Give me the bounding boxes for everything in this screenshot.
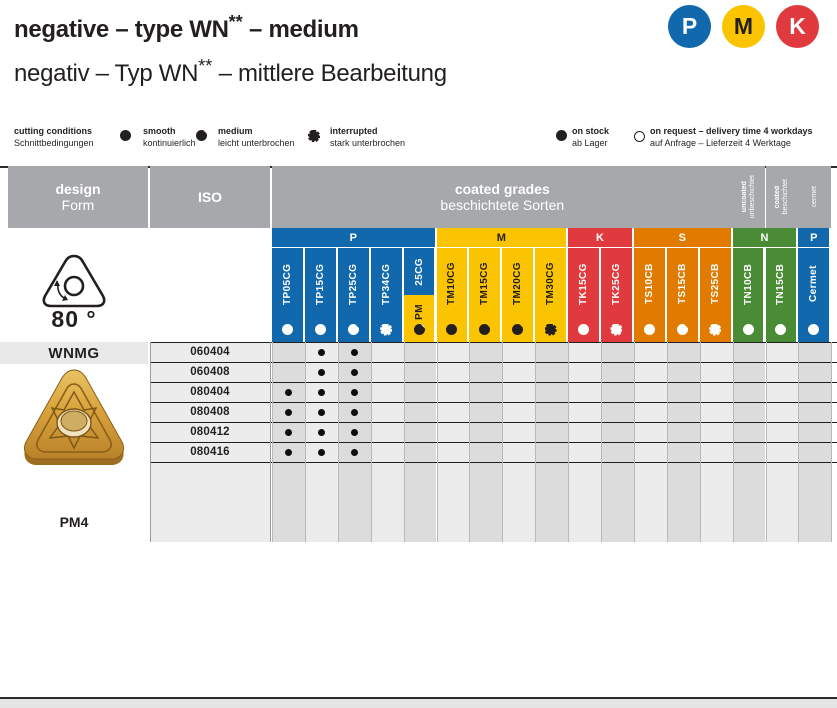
column-separator — [270, 342, 271, 542]
insert-photo-icon — [0, 368, 148, 498]
grade-symbol-cermet — [808, 323, 819, 336]
legend-item-en: smooth — [143, 126, 196, 138]
page-header: negative – type WN** – medium negativ – … — [0, 0, 837, 112]
grade-symbol-tp25cg — [348, 323, 359, 336]
legend-item-de: stark unterbrochen — [330, 138, 405, 150]
grade-column-pm: PM — [404, 295, 435, 342]
availability-dot — [351, 369, 358, 376]
coated-grades-header: coated gradesbeschichtete Sorten — [272, 166, 733, 228]
three-quarter-circle-icon — [196, 130, 207, 141]
table-body: WNMG — [0, 342, 837, 542]
grade-symbol-ts25cb — [709, 323, 721, 336]
filled-circle-icon — [743, 324, 754, 335]
availability-dot — [285, 389, 292, 396]
grade-column-tp34cg: TP34CG — [371, 248, 402, 342]
grade-symbol-tn10cb — [743, 323, 754, 336]
column-separator — [272, 342, 273, 542]
legend-item-de: kontinuierlich — [143, 138, 196, 150]
star-burst-icon — [308, 130, 320, 142]
design-header: designForm — [8, 166, 148, 228]
uncoated-header: uncoatedunbeschichtet — [733, 166, 766, 228]
grade-symbol-tn15cb — [775, 323, 786, 336]
legend-symbol-0 — [120, 130, 131, 145]
filled-circle-icon — [644, 324, 655, 335]
availability-dot — [318, 449, 325, 456]
grade-column-tn15cb: TN15CB — [766, 248, 797, 342]
legend-item-2: interruptedstark unterbrochen — [330, 126, 405, 149]
grade-group-p-5: P — [798, 228, 829, 247]
grade-name-tn15cb: TN15CB — [775, 248, 786, 320]
three-quarter-circle-icon — [775, 324, 786, 335]
grade-symbol-tk25cg — [610, 323, 622, 336]
grades-table: designFormISOcoated gradesbeschichtete S… — [0, 166, 837, 542]
grade-column-ts15cb: TS15CB — [667, 248, 698, 342]
column-separator — [437, 342, 438, 542]
grade-column-tn10cb: TN10CB — [733, 248, 764, 342]
star-burst-icon — [380, 324, 392, 336]
iso-header: ISO — [150, 166, 270, 228]
legend-item-1: mediumleicht unterbrochen — [218, 126, 295, 149]
insert-family-label: WNMG — [0, 342, 148, 364]
availability-dot — [285, 409, 292, 416]
iso-badge-m-1: M — [722, 5, 765, 48]
three-quarter-circle-icon — [479, 324, 490, 335]
grade-name-25cg: 25CG — [414, 258, 425, 286]
column-separator — [150, 342, 151, 542]
grade-name-ts25cb: TS25CB — [710, 248, 721, 320]
grade-symbol-tm15cg — [479, 323, 490, 336]
legend-item-en: interrupted — [330, 126, 405, 138]
column-separator — [667, 342, 668, 542]
grade-symbol-tk15cg — [578, 323, 589, 336]
legend-symbol-2 — [308, 130, 320, 146]
availability-dot — [318, 369, 325, 376]
design-cell: WNMG — [0, 342, 148, 542]
insert-shape-cell: 80 ° — [0, 248, 148, 342]
trigon-insert-icon — [0, 248, 148, 312]
availability-dot — [318, 349, 325, 356]
grade-symbol-tp34cg — [380, 323, 392, 336]
filled-circle-icon — [120, 130, 131, 141]
table-header-row-groups: PMKSNP — [0, 228, 837, 247]
filled-circle-icon — [446, 324, 457, 335]
column-separator — [469, 342, 470, 542]
grade-name-tp15cg: TP15CG — [315, 248, 326, 320]
three-quarter-circle-icon — [414, 324, 425, 335]
insert-angle-label: 80 ° — [0, 306, 148, 333]
chipbreaker-label: PM4 — [0, 514, 148, 530]
coated-grades-de: beschichtete Sorten — [440, 197, 564, 213]
iso-code-cell[interactable]: 060408 — [150, 362, 270, 382]
three-quarter-circle-icon — [677, 324, 688, 335]
title-de-suffix: – mittlere Bearbeitung — [212, 60, 447, 87]
grade-name-tp05cg: TP05CG — [282, 248, 293, 320]
grade-name-cermet: Cermet — [808, 248, 819, 320]
iso-badge-k-2: K — [776, 5, 819, 48]
iso-code-cell[interactable]: 080416 — [150, 442, 270, 462]
legend-item-de: leicht unterbrochen — [218, 138, 295, 150]
grade-symbol-tm10cg — [446, 323, 457, 336]
availability-dot — [351, 409, 358, 416]
three-quarter-circle-icon — [348, 324, 359, 335]
iso-header-label: ISO — [198, 189, 222, 205]
grade-name-tm30cg: TM30CG — [545, 248, 556, 320]
legend-bar: cutting conditions Schnittbedingungen sm… — [0, 120, 837, 160]
grade-symbol-ts10cb — [644, 323, 655, 336]
grade-name-tk15cg: TK15CG — [578, 248, 589, 320]
availability-dot — [318, 409, 325, 416]
grade-group-n-4: N — [733, 228, 797, 247]
design-header-de: Form — [55, 197, 100, 213]
grade-group-m-1: M — [437, 228, 567, 247]
grade-column-tp05cg: TP05CG — [272, 248, 303, 342]
row-divider-last — [150, 462, 837, 463]
column-separator — [568, 342, 569, 542]
grade-column-tk25cg: TK25CG — [601, 248, 632, 342]
legend-on-stock: on stockab Lager — [572, 126, 609, 149]
iso-code-cell[interactable]: 080412 — [150, 422, 270, 442]
grade-column-tm20cg: TM20CG — [502, 248, 533, 342]
grade-column-tm15cg: TM15CG — [469, 248, 500, 342]
design-header-en: design — [55, 181, 100, 197]
table-header-row-main: designFormISOcoated gradesbeschichtete S… — [0, 166, 837, 228]
availability-dot — [285, 449, 292, 456]
iso-code-cell[interactable]: 080404 — [150, 382, 270, 402]
filled-circle-icon — [578, 324, 589, 335]
column-separator — [831, 342, 832, 542]
open-circle-icon — [634, 131, 645, 142]
grade-column-25cg: 25CG — [404, 248, 435, 295]
grade-symbol-tp15cg — [315, 323, 326, 336]
column-separator — [700, 342, 701, 542]
legend-request-en: on request – delivery time 4 workdays — [650, 126, 813, 138]
grade-symbol-ts15cb — [677, 323, 688, 336]
grade-name-ts10cb: TS10CB — [644, 248, 655, 320]
grade-name-tm15cg: TM15CG — [479, 248, 490, 320]
uncoated-header-text: uncoatedunbeschichtet — [741, 175, 757, 218]
legend-stock-en: on stock — [572, 126, 609, 138]
column-separator — [404, 342, 405, 542]
title-de-prefix: negativ – Typ WN — [14, 60, 198, 87]
iso-group-badges: PMK — [668, 5, 819, 48]
legend-item-en: medium — [218, 126, 295, 138]
availability-dot — [351, 449, 358, 456]
column-separator — [766, 342, 767, 542]
grade-name-tp25cg: TP25CG — [348, 248, 359, 320]
page-title-de: negativ – Typ WN** – mittlere Bearbeitun… — [14, 56, 447, 88]
coated-col-header: coatedbeschichtet — [766, 166, 799, 228]
grade-column-tp15cg: TP15CG — [305, 248, 336, 342]
grade-symbol-pm — [414, 323, 425, 336]
three-quarter-circle-icon — [512, 324, 523, 335]
grade-column-tm10cg: TM10CG — [437, 248, 468, 342]
column-separator — [798, 342, 799, 542]
grade-name-tm20cg: TM20CG — [512, 248, 523, 320]
grade-column-cermet: Cermet — [798, 248, 829, 342]
coated-grades-en: coated grades — [440, 181, 564, 197]
iso-code-cell[interactable]: 060404 — [150, 342, 270, 362]
column-separator — [733, 342, 734, 542]
legend-stock-de: ab Lager — [572, 138, 609, 150]
legend-request-de: auf Anfrage – Lieferzeit 4 Werktage — [650, 138, 813, 150]
legend-request-symbol — [634, 131, 645, 146]
grade-column-tp25cg: TP25CG — [338, 248, 369, 342]
availability-dot — [318, 429, 325, 436]
column-separator — [535, 342, 536, 542]
availability-dot — [351, 349, 358, 356]
grade-name-pm: PM — [414, 304, 425, 320]
grade-symbol-tp05cg — [282, 323, 293, 336]
grade-name-tm10cg: TM10CG — [446, 248, 457, 320]
legend-on-request: on request – delivery time 4 workdaysauf… — [650, 126, 813, 149]
availability-dot — [351, 429, 358, 436]
grade-column-ts25cb: TS25CB — [700, 248, 731, 342]
star-burst-icon — [545, 324, 557, 336]
column-separator — [305, 342, 306, 542]
legend-conditions-de: Schnittbedingungen — [14, 138, 94, 150]
filled-circle-icon — [282, 324, 293, 335]
cermet-header: cermet — [798, 166, 831, 228]
coated-col-header-text: coatedbeschichtet — [774, 179, 790, 214]
grade-symbol-tm30cg — [545, 323, 557, 336]
star-burst-icon — [709, 324, 721, 336]
legend-conditions-en: cutting conditions — [14, 126, 94, 138]
filled-circle-icon — [315, 324, 326, 335]
iso-badge-p-0: P — [668, 5, 711, 48]
grade-name-ts15cb: TS15CB — [677, 248, 688, 320]
grade-column-tk15cg: TK15CG — [568, 248, 599, 342]
filled-circle-icon — [808, 324, 819, 335]
legend-item-0: smoothkontinuierlich — [143, 126, 196, 149]
availability-dot — [351, 389, 358, 396]
cermet-header-text: cermet — [811, 186, 819, 207]
grade-column-ts10cb: TS10CB — [634, 248, 665, 342]
star-burst-icon — [610, 324, 622, 336]
title-de-superscript: ** — [198, 56, 212, 76]
column-separator — [502, 342, 503, 542]
title-en-suffix: – medium — [243, 16, 359, 43]
title-en-superscript: ** — [229, 12, 243, 32]
table-footer-band — [0, 699, 837, 708]
column-separator — [338, 342, 339, 542]
availability-dot — [318, 389, 325, 396]
grade-group-k-2: K — [568, 228, 632, 247]
column-separator — [601, 342, 602, 542]
page-title-en: negative – type WN** – medium — [14, 12, 359, 44]
column-separator — [634, 342, 635, 542]
availability-dot — [285, 429, 292, 436]
grade-column-25cg: 25CGPM — [404, 248, 435, 342]
legend-cutting-conditions: cutting conditions Schnittbedingungen — [14, 126, 94, 149]
grade-symbol-tm20cg — [512, 323, 523, 336]
iso-code-cell[interactable]: 080408 — [150, 402, 270, 422]
grade-group-p-0: P — [272, 228, 435, 247]
legend-symbol-1 — [196, 130, 207, 145]
title-en-prefix: negative – type WN — [14, 16, 229, 43]
grade-name-tk25cg: TK25CG — [611, 248, 622, 320]
filled-circle-icon — [556, 130, 567, 141]
column-separator — [371, 342, 372, 542]
legend-stock-symbol — [556, 130, 567, 145]
grade-column-tm30cg: TM30CG — [535, 248, 566, 342]
grade-name-tp34cg: TP34CG — [381, 248, 392, 320]
grade-group-s-3: S — [634, 228, 731, 247]
grade-name-tn10cb: TN10CB — [743, 248, 754, 320]
